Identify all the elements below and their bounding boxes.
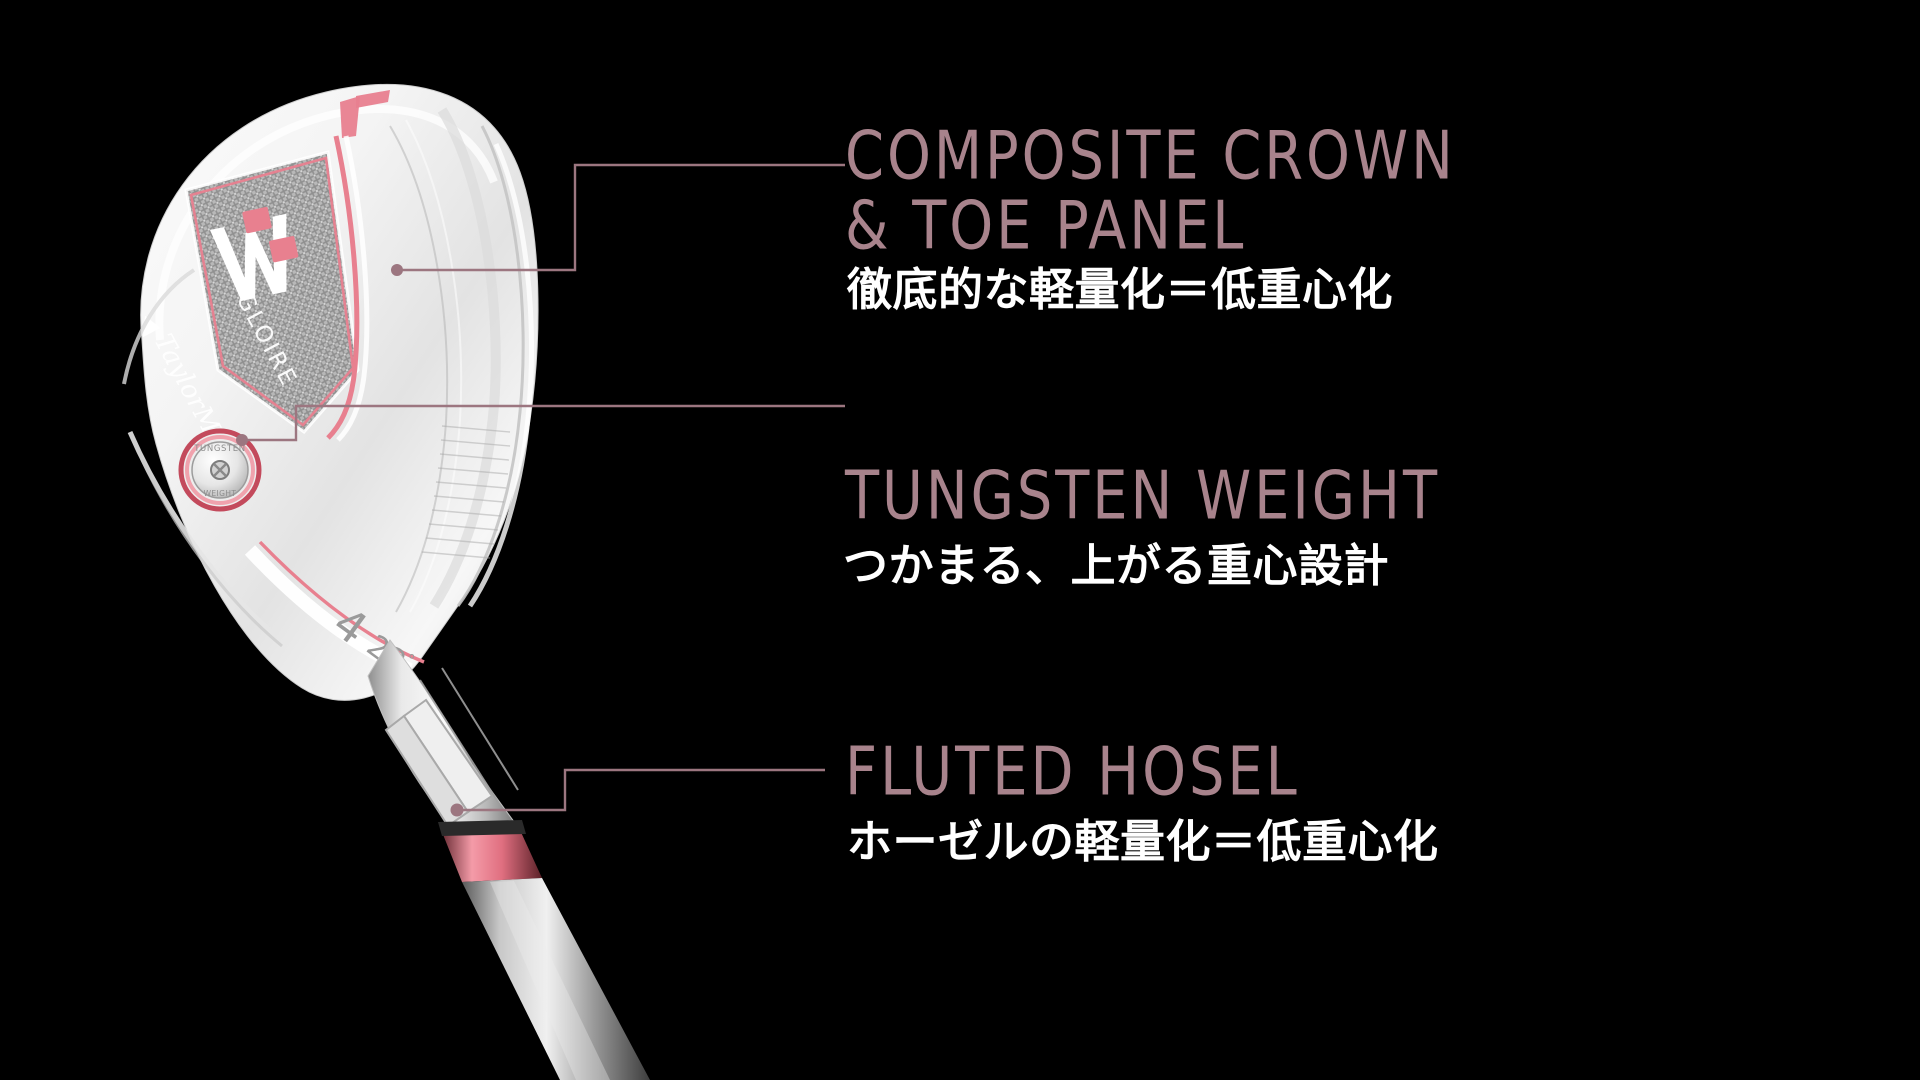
callout-title-fluted-hosel: FLUTED HOSEL bbox=[845, 738, 1427, 808]
callout-title-composite-crown: COMPOSITE CROWN & TOE PANEL bbox=[845, 122, 1456, 262]
callout-composite-crown: COMPOSITE CROWN & TOE PANEL 徹底的な軽量化＝低重心化 bbox=[845, 122, 1468, 314]
callout-title-tungsten-weight: TUNGSTEN WEIGHT bbox=[845, 462, 1440, 532]
callout-tungsten-weight: TUNGSTEN WEIGHT つかまる、上がる重心設計 bbox=[845, 462, 1452, 591]
svg-text:TUNGSTEN: TUNGSTEN bbox=[193, 444, 245, 454]
golf-club-hybrid-photo: GLOIRE TaylorMade TUNGSTEN bbox=[90, 40, 870, 1080]
callout-subtitle-fluted-hosel: ホーゼルの軽量化＝低重心化 bbox=[847, 817, 1439, 867]
callout-fluted-hosel: FLUTED HOSEL ホーゼルの軽量化＝低重心化 bbox=[845, 738, 1439, 867]
callout-subtitle-composite-crown: 徹底的な軽量化＝低重心化 bbox=[847, 265, 1468, 315]
tungsten-weight-port: TUNGSTEN WEIGHT bbox=[178, 428, 262, 512]
feature-callout-slide: GLOIRE TaylorMade TUNGSTEN bbox=[0, 0, 1920, 1080]
callout-subtitle-tungsten-weight: つかまる、上がる重心設計 bbox=[843, 541, 1452, 591]
svg-text:WEIGHT: WEIGHT bbox=[204, 489, 237, 498]
